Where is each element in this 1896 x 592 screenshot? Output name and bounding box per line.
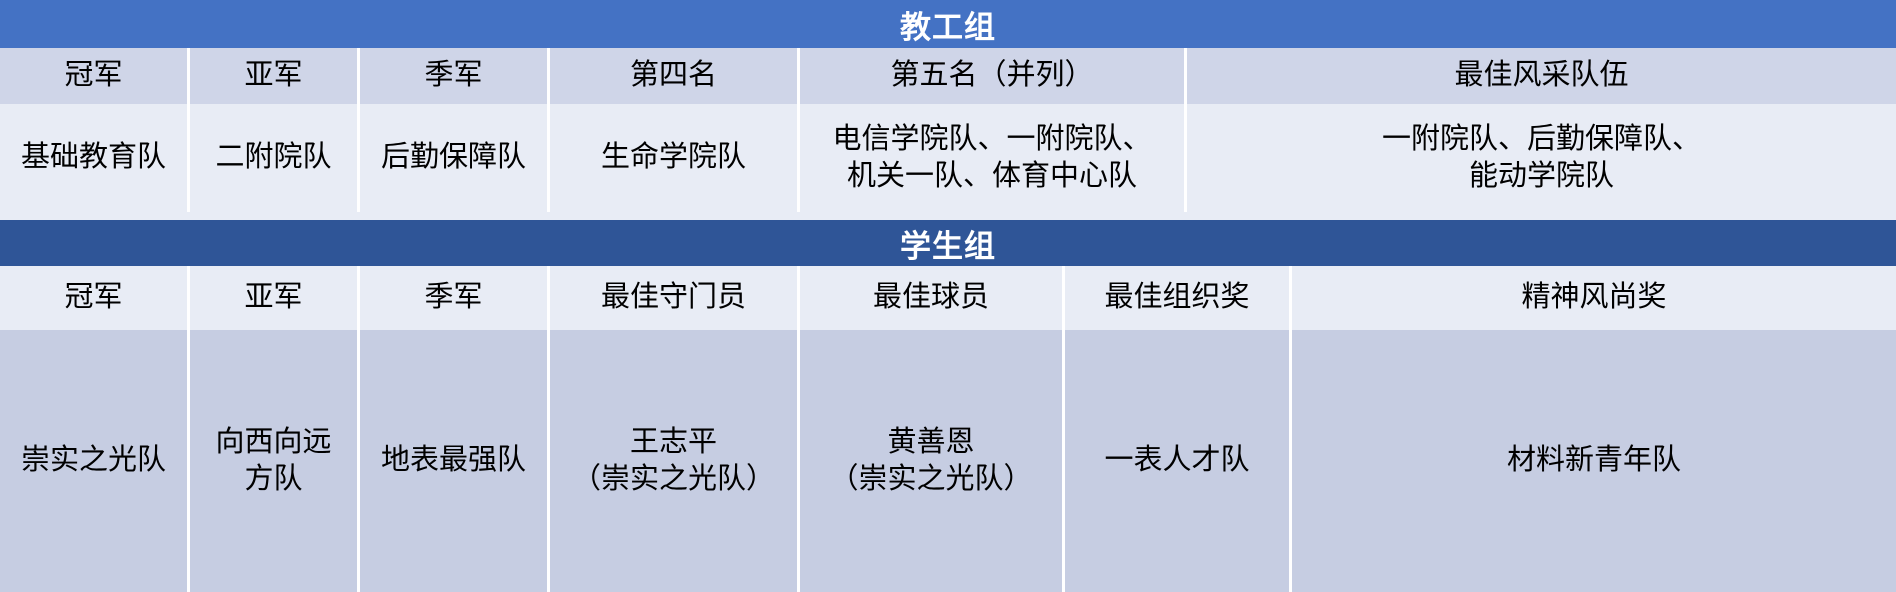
student-value-runner-up: 向西向远 方队 <box>190 330 360 592</box>
teacher-value-best-style: 一附院队、后勤保障队、 能动学院队 <box>1187 104 1896 212</box>
teacher-section-bottom-spacer <box>0 212 1896 220</box>
teacher-column-header-best-style: 最佳风采队伍 <box>1187 48 1896 104</box>
student-value-champion: 崇实之光队 <box>0 330 190 592</box>
student-value-best-organizer: 一表人才队 <box>1065 330 1292 592</box>
student-value-best-player: 黄善恩 （崇实之光队） <box>800 330 1065 592</box>
student-value-best-goalkeeper: 王志平 （崇实之光队） <box>550 330 800 592</box>
student-group-column-header-row: 冠军 亚军 季军 最佳守门员 最佳球员 最佳组织奖 精神风尚奖 <box>0 266 1896 330</box>
teacher-value-third-place: 后勤保障队 <box>360 104 550 212</box>
section-title-student-group: 学生组 <box>0 220 1896 266</box>
award-results-table: 教工组 冠军 亚军 季军 第四名 第五名（并列） 最佳风采队伍 基础教育队 二附… <box>0 0 1896 592</box>
student-value-sportsmanship: 材料新青年队 <box>1292 330 1896 592</box>
teacher-column-header-champion: 冠军 <box>0 48 190 104</box>
teacher-group-column-header-row: 冠军 亚军 季军 第四名 第五名（并列） 最佳风采队伍 <box>0 48 1896 104</box>
student-column-header-runner-up: 亚军 <box>190 266 360 330</box>
student-column-header-sportsmanship: 精神风尚奖 <box>1292 266 1896 330</box>
teacher-group-data-row: 基础教育队 二附院队 后勤保障队 生命学院队 电信学院队、一附院队、 机关一队、… <box>0 104 1896 212</box>
section-title-teacher-group: 教工组 <box>0 0 1896 48</box>
student-column-header-best-player: 最佳球员 <box>800 266 1065 330</box>
student-column-header-best-organizer: 最佳组织奖 <box>1065 266 1292 330</box>
teacher-value-fourth-place: 生命学院队 <box>550 104 800 212</box>
teacher-value-champion: 基础教育队 <box>0 104 190 212</box>
student-column-header-best-goalkeeper: 最佳守门员 <box>550 266 800 330</box>
teacher-value-fifth-place: 电信学院队、一附院队、 机关一队、体育中心队 <box>800 104 1187 212</box>
student-column-header-champion: 冠军 <box>0 266 190 330</box>
student-value-third-place: 地表最强队 <box>360 330 550 592</box>
student-group-data-row: 崇实之光队 向西向远 方队 地表最强队 王志平 （崇实之光队） 黄善恩 （崇实之… <box>0 330 1896 592</box>
teacher-column-header-fourth-place: 第四名 <box>550 48 800 104</box>
teacher-value-runner-up: 二附院队 <box>190 104 360 212</box>
teacher-column-header-fifth-place: 第五名（并列） <box>800 48 1187 104</box>
teacher-column-header-runner-up: 亚军 <box>190 48 360 104</box>
teacher-column-header-third-place: 季军 <box>360 48 550 104</box>
student-column-header-third-place: 季军 <box>360 266 550 330</box>
